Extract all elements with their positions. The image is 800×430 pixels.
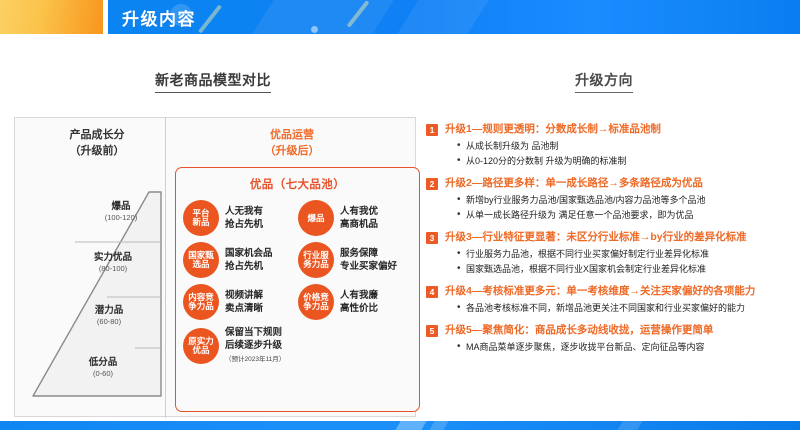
pool-desc: 服务保障专业买家偏好 (340, 247, 397, 273)
pool-cell-national-selection[interactable]: 国家甄选品 国家机会品抢占先机 (176, 242, 298, 278)
upgrade-item: 2 升级2—路径更多样：单一成长路径→多条路径成为优品 新增by行业服务力品池/… (426, 176, 794, 223)
upgrade-header: 4 升级4—考核标准更多元：单一考核维度→关注买家偏好的各项能力 (426, 284, 794, 298)
pool-desc-note: （预计2023年11月） (225, 353, 285, 366)
pool-cell-content-competitive[interactable]: 内容竞争力品 视频讲解卖点清晰 (176, 284, 298, 320)
upgrade-item: 5 升级5—聚焦简化：商品成长多动线收拢，运营操作更简单 MA商品菜单逐步聚焦，… (426, 323, 794, 355)
pool-desc: 国家机会品抢占先机 (225, 247, 273, 273)
tier-name: 低分品 (45, 358, 161, 369)
banner-circle-decor-2 (311, 26, 318, 33)
upgrade-bullet: 新增by行业服务力品池/国家甄选品池/内容力品池等多个品池 (457, 193, 794, 208)
tier-name: 潜力品 (57, 306, 161, 317)
pool-chip-label: 价格竞争力品 (301, 293, 331, 311)
pool-box-title: 优品（七大品池） (176, 176, 419, 192)
pool-chip-label: 原实力优品 (186, 337, 216, 355)
pool-chip: 国家甄选品 (183, 242, 219, 278)
tier-range: (100-120) (81, 214, 161, 223)
pool-desc: 保留当下规则后续逐步升级 （预计2023年11月） (225, 326, 285, 366)
upgrade-title: 升级5—聚焦简化：商品成长多动线收拢，运营操作更简单 (445, 323, 713, 337)
pool-row: 原实力优品 保留当下规则后续逐步升级 （预计2023年11月） (176, 326, 419, 366)
new-model-title: 优品运营 （升级后） (167, 127, 417, 159)
old-model-title-line1: 产品成长分 (70, 129, 125, 141)
product-pool-box: 优品（七大品池） 平台新品 人无我有抢占先机 爆品 (175, 167, 420, 412)
old-model-title: 产品成长分 （升级前） (29, 127, 165, 159)
tier-range: (60-80) (57, 318, 161, 327)
upgrade-bullets: 各品池考核标准不同，新增品池更关注不同国家和行业买家偏好的能力 (457, 301, 794, 316)
upgrade-bullet: MA商品菜单逐步聚焦，逐步收拢平台新品、定向征品等内容 (457, 340, 794, 355)
pool-desc: 视频讲解卖点清晰 (225, 289, 263, 315)
upgrade-bullet: 国家甄选品池，根据不同行业X国家机会制定行业差异化标准 (457, 262, 794, 277)
pool-cell-industry-service[interactable]: 行业服务力品 服务保障专业买家偏好 (298, 242, 418, 278)
upgrade-title: 升级2—路径更多样：单一成长路径→多条路径成为优品 (445, 176, 703, 190)
pool-chip: 价格竞争力品 (298, 284, 334, 320)
tier-name: 实力优品 (65, 253, 161, 264)
pool-row: 平台新品 人无我有抢占先机 爆品 人有我优高商机品 (176, 200, 419, 236)
new-model-title-line1: 优品运营 (270, 129, 314, 141)
tier-row: 实力优品 (80-100) (65, 253, 161, 274)
bottom-bar (0, 421, 800, 430)
tier-range: (80-100) (65, 265, 161, 274)
pool-chip: 平台新品 (183, 200, 219, 236)
banner-wedge-decor-2 (397, 0, 488, 34)
top-banner: 升级内容 (0, 0, 800, 34)
banner-orange-accent (0, 0, 103, 34)
banner-blue-bar: 升级内容 (108, 0, 800, 34)
tier-row: 低分品 (0-60) (45, 358, 161, 379)
pool-cell-original-premium[interactable]: 原实力优品 保留当下规则后续逐步升级 （预计2023年11月） (176, 326, 406, 366)
pool-chip-label: 行业服务力品 (301, 251, 331, 269)
upgrade-number-badge: 4 (426, 286, 438, 298)
pool-grid: 平台新品 人无我有抢占先机 爆品 人有我优高商机品 (176, 200, 419, 366)
pool-chip-label: 爆品 (305, 214, 326, 223)
pool-chip-label: 平台新品 (190, 209, 211, 227)
upgrade-list: 1 升级1—规则更透明：分数成长制→标准品池制 从成长制升级为 品池制 从0-1… (426, 122, 794, 362)
panel-divider (165, 118, 166, 418)
pool-row: 国家甄选品 国家机会品抢占先机 行业服务力品 服务保障专业买家偏好 (176, 242, 419, 278)
upgrade-item: 1 升级1—规则更透明：分数成长制→标准品池制 从成长制升级为 品池制 从0-1… (426, 122, 794, 169)
pool-cell-platform-new[interactable]: 平台新品 人无我有抢占先机 (176, 200, 298, 236)
pool-row: 内容竞争力品 视频讲解卖点清晰 价格竞争力品 人有我廉高性价比 (176, 284, 419, 320)
tier-row: 爆品 (100-120) (81, 202, 161, 223)
upgrade-bullet: 从单一成长路径升级为 满足任意一个品池要求，即为优品 (457, 208, 794, 223)
tier-range: (0-60) (45, 370, 161, 379)
upgrade-number-badge: 2 (426, 178, 438, 190)
upgrade-number-badge: 5 (426, 325, 438, 337)
tier-row: 潜力品 (60-80) (57, 306, 161, 327)
pool-chip: 爆品 (298, 200, 334, 236)
footer-slash-decor-1 (395, 421, 426, 430)
upgrade-bullet: 从0-120分的分数制 升级为明确的标准制 (457, 154, 794, 169)
upgrade-bullets: 新增by行业服务力品池/国家甄选品池/内容力品池等多个品池 从单一成长路径升级为… (457, 193, 794, 223)
pool-chip-label: 国家甄选品 (186, 251, 216, 269)
pool-desc: 人无我有抢占先机 (225, 205, 263, 231)
upgrade-title: 升级3—行业特征更显著：未区分行业标准→by行业的差异化标准 (445, 230, 747, 244)
upgrade-title: 升级1—规则更透明：分数成长制→标准品池制 (445, 122, 661, 136)
upgrade-item: 3 升级3—行业特征更显著：未区分行业标准→by行业的差异化标准 行业服务力品池… (426, 230, 794, 277)
upgrade-title: 升级4—考核标准更多元：单一考核维度→关注买家偏好的各项能力 (445, 284, 755, 298)
pool-desc: 人有我廉高性价比 (340, 289, 378, 315)
old-model-title-line2: （升级前） (70, 145, 125, 157)
pool-chip: 原实力优品 (183, 328, 219, 364)
upgrade-bullets: 行业服务力品池，根据不同行业买家偏好制定行业差异化标准 国家甄选品池，根据不同行… (457, 247, 794, 277)
upgrade-header: 5 升级5—聚焦简化：商品成长多动线收拢，运营操作更简单 (426, 323, 794, 337)
upgrade-number-badge: 1 (426, 124, 438, 136)
pool-chip: 行业服务力品 (298, 242, 334, 278)
upgrade-header: 3 升级3—行业特征更显著：未区分行业标准→by行业的差异化标准 (426, 230, 794, 244)
upgrade-bullets: 从成长制升级为 品池制 从0-120分的分数制 升级为明确的标准制 (457, 139, 794, 169)
pool-desc: 人有我优高商机品 (340, 205, 378, 231)
pool-chip: 内容竞争力品 (183, 284, 219, 320)
upgrade-item: 4 升级4—考核标准更多元：单一考核维度→关注买家偏好的各项能力 各品池考核标准… (426, 284, 794, 316)
pool-chip-label: 内容竞争力品 (186, 293, 216, 311)
upgrade-bullets: MA商品菜单逐步聚焦，逐步收拢平台新品、定向征品等内容 (457, 340, 794, 355)
heading-model-comparison: 新老商品模型对比 (155, 70, 271, 93)
upgrade-bullet: 各品池考核标准不同，新增品池更关注不同国家和行业买家偏好的能力 (457, 301, 794, 316)
comparison-panel: 产品成长分 （升级前） 优品运营 （升级后） 爆品 (100-120) 实力优品… (14, 117, 416, 417)
new-model-title-line2: （升级后） (265, 145, 320, 157)
upgrade-number-badge: 3 (426, 232, 438, 244)
banner-title: 升级内容 (122, 5, 196, 30)
upgrade-header: 1 升级1—规则更透明：分数成长制→标准品池制 (426, 122, 794, 136)
pool-cell-hot-product[interactable]: 爆品 人有我优高商机品 (298, 200, 418, 236)
upgrade-header: 2 升级2—路径更多样：单一成长路径→多条路径成为优品 (426, 176, 794, 190)
pool-cell-price-competitive[interactable]: 价格竞争力品 人有我廉高性价比 (298, 284, 418, 320)
tier-name: 爆品 (81, 202, 161, 213)
upgrade-bullet: 行业服务力品池，根据不同行业买家偏好制定行业差异化标准 (457, 247, 794, 262)
banner-slash-decor-1 (198, 4, 222, 33)
growth-score-pyramid: 爆品 (100-120) 实力优品 (80-100) 潜力品 (60-80) 低… (31, 190, 165, 398)
slide-root: 升级内容 新老商品模型对比 升级方向 产品成长分 （升级前） 优品运营 （升级后… (0, 0, 800, 430)
banner-wedge-decor-1 (252, 0, 393, 34)
heading-upgrade-direction: 升级方向 (575, 70, 633, 93)
footer-slash-decor-3 (617, 421, 642, 430)
footer-slash-decor-2 (429, 421, 448, 430)
upgrade-bullet: 从成长制升级为 品池制 (457, 139, 794, 154)
